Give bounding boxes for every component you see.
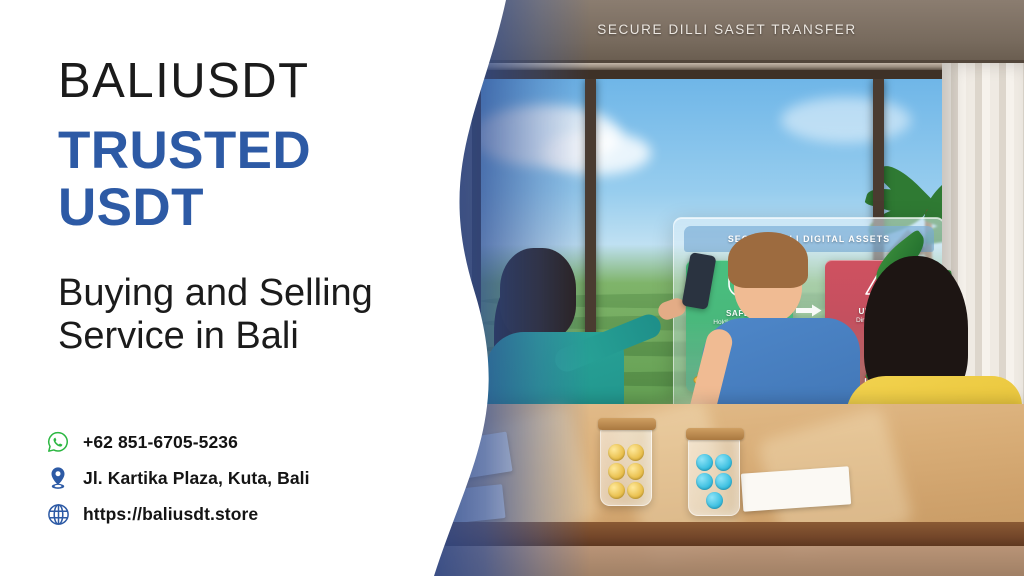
contact-row-address[interactable]: Jl. Kartika Plaza, Kuta, Bali xyxy=(46,460,310,496)
blue-token xyxy=(706,492,723,509)
illustration-artwork: SECURE DILLI SASET TRANSFER xyxy=(430,0,1024,576)
headline-line-1: TRUSTED xyxy=(58,122,438,179)
subheadline-line-1: Buying and Selling xyxy=(58,272,458,315)
gold-coin xyxy=(627,463,644,480)
gold-coin xyxy=(608,444,625,461)
brand-name: BALIUSDT xyxy=(58,57,310,106)
blue-token xyxy=(715,473,732,490)
gold-coin xyxy=(627,482,644,499)
website-url: https://baliusdt.store xyxy=(83,504,258,525)
blue-token xyxy=(696,454,713,471)
contact-list: +62 851-6705-5236 Jl. Kartika Plaza, Kut… xyxy=(46,424,310,532)
jar-of-blue-tokens xyxy=(688,436,740,516)
jar-contents xyxy=(694,461,734,509)
subheadline: Buying and Selling Service in Bali xyxy=(58,272,458,358)
globe-icon xyxy=(46,502,70,526)
promotional-banner: SECURE DILLI SASET TRANSFER xyxy=(0,0,1024,576)
gold-coin xyxy=(627,444,644,461)
jar-lid xyxy=(598,418,656,430)
jar-lid xyxy=(686,428,744,440)
headline: TRUSTED USDT xyxy=(58,122,438,236)
blue-token xyxy=(715,454,732,471)
hair xyxy=(728,232,808,288)
location-pin-icon xyxy=(46,466,70,490)
gold-coin xyxy=(608,463,625,480)
blue-token xyxy=(696,473,713,490)
text-panel: BALIUSDT TRUSTED USDT Buying and Selling… xyxy=(0,0,470,576)
subheadline-line-2: Service in Bali xyxy=(58,315,458,358)
whatsapp-number: +62 851-6705-5236 xyxy=(83,432,238,453)
headline-line-2: USDT xyxy=(58,179,438,236)
address-text: Jl. Kartika Plaza, Kuta, Bali xyxy=(83,468,310,489)
jar-contents xyxy=(606,451,646,499)
cloud xyxy=(781,97,911,143)
notebook xyxy=(741,466,851,511)
jar-of-gold-coins xyxy=(600,426,652,506)
gold-coin xyxy=(608,482,625,499)
contact-row-website[interactable]: https://baliusdt.store xyxy=(46,496,310,532)
whatsapp-icon xyxy=(46,430,70,454)
contact-row-whatsapp[interactable]: +62 851-6705-5236 xyxy=(46,424,310,460)
